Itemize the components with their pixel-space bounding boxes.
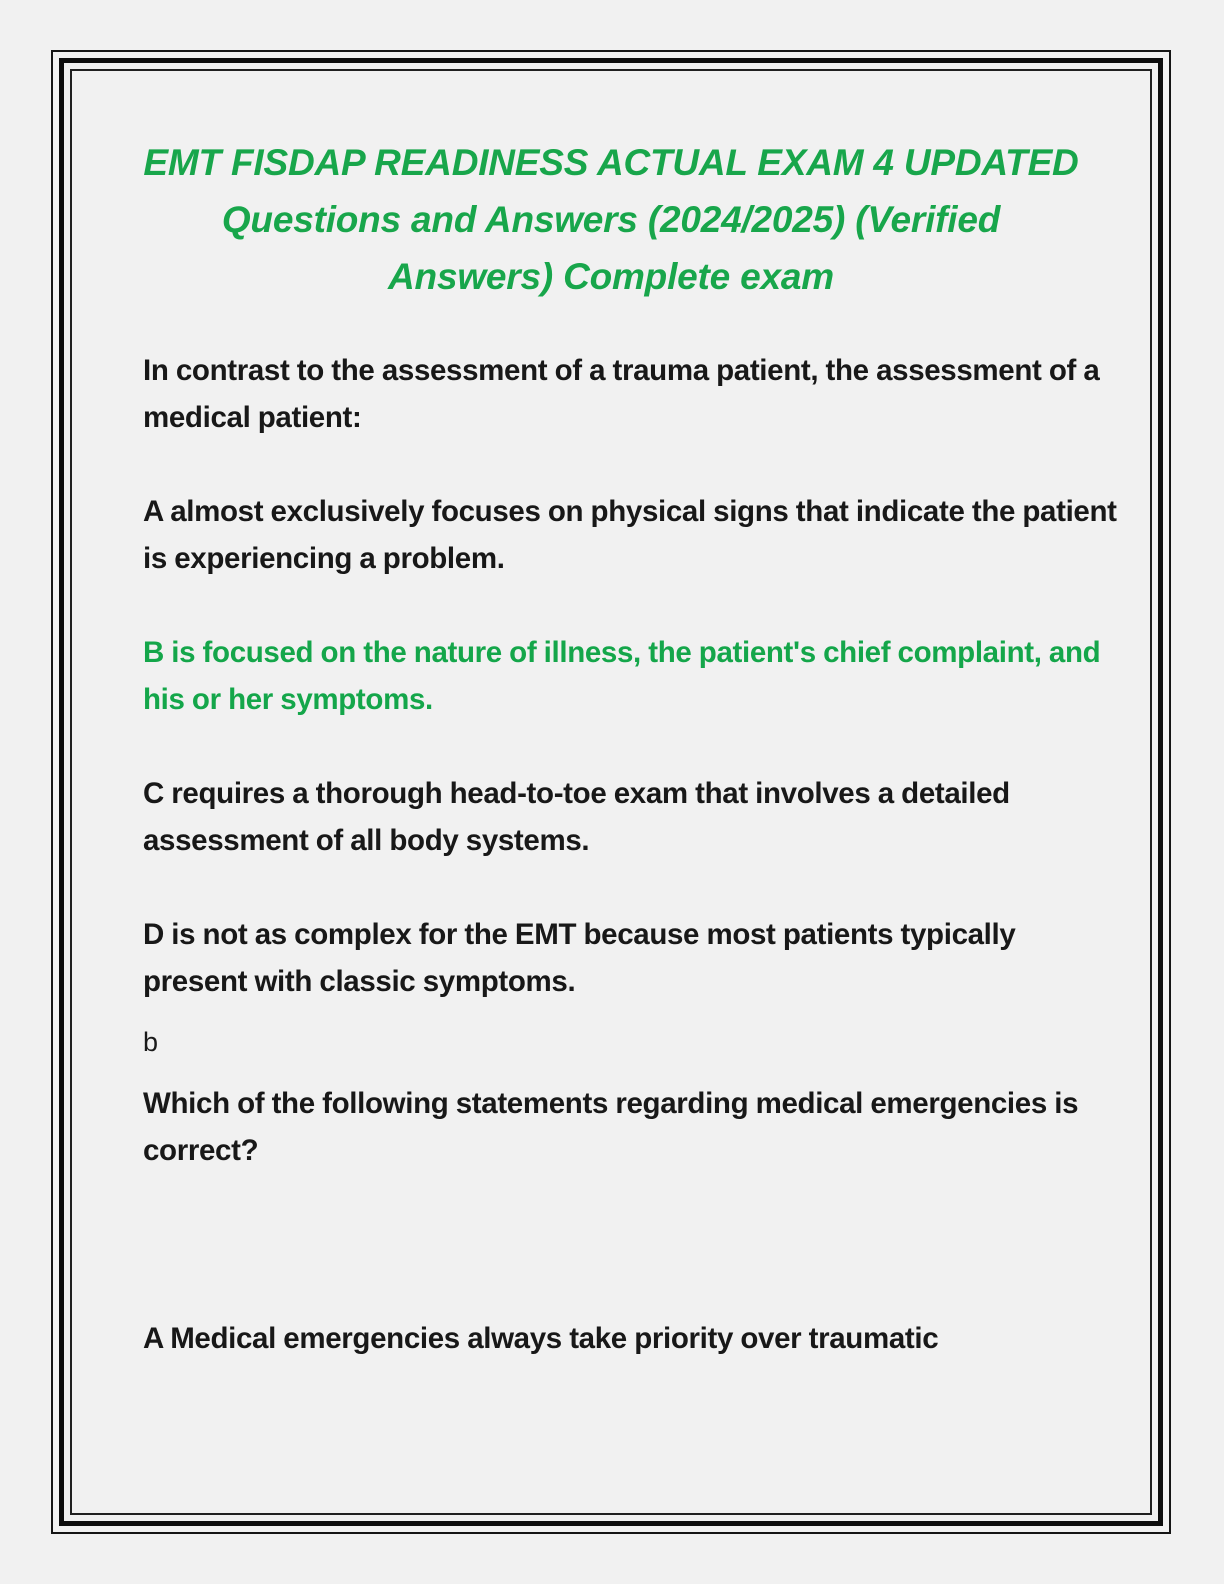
page-title: EMT FISDAP READINESS ACTUAL EXAM 4 UPDAT… — [72, 71, 1150, 305]
question-1-option-b: B is focused on the nature of illness, t… — [143, 629, 1120, 723]
spacer — [143, 441, 1120, 488]
spacer — [143, 864, 1120, 911]
question-1-option-d: D is not as complex for the EMT because … — [143, 911, 1120, 1005]
spacer — [143, 1174, 1120, 1315]
page-content: EMT FISDAP READINESS ACTUAL EXAM 4 UPDAT… — [72, 71, 1150, 1513]
question-1-option-c: C requires a thorough head-to-toe exam t… — [143, 770, 1120, 864]
question-1-option-a: A almost exclusively focuses on physical… — [143, 488, 1120, 582]
question-body: In contrast to the assessment of a traum… — [72, 347, 1150, 1362]
spacer — [143, 1066, 1120, 1080]
title-body-spacer — [72, 305, 1150, 347]
spacer — [143, 1005, 1120, 1019]
question-1-answer-key: b — [143, 1019, 1120, 1066]
spacer — [143, 582, 1120, 629]
document-page: EMT FISDAP READINESS ACTUAL EXAM 4 UPDAT… — [0, 0, 1224, 1584]
question-2-option-a: A Medical emergencies always take priori… — [143, 1315, 1120, 1362]
question-1-stem: In contrast to the assessment of a traum… — [143, 347, 1120, 441]
spacer — [143, 723, 1120, 770]
question-2-stem: Which of the following statements regard… — [143, 1080, 1120, 1174]
